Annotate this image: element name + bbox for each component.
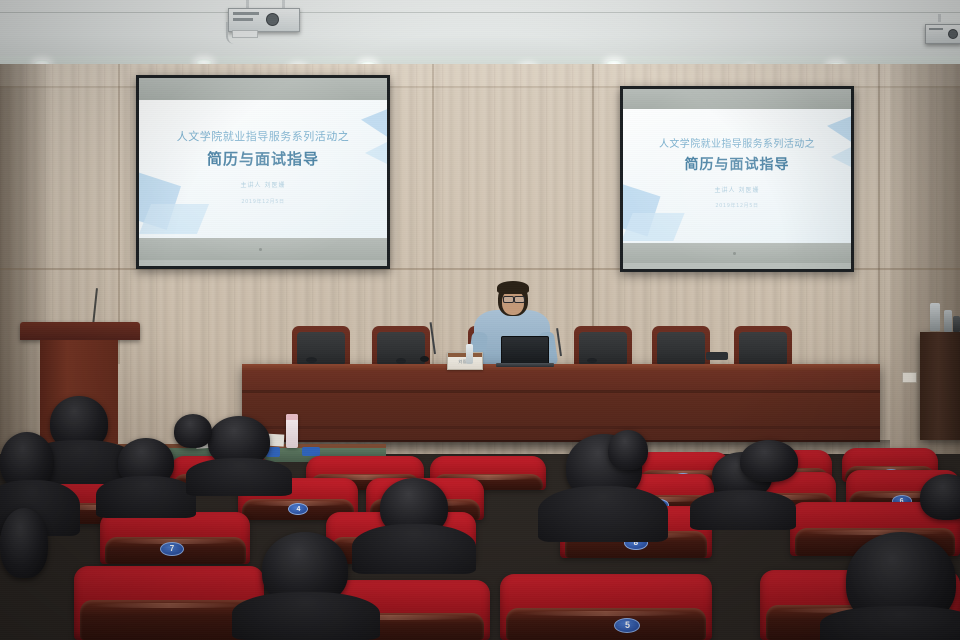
ceiling-seam — [0, 12, 960, 13]
projection-screen-left[interactable]: 人文学院就业指导服务系列活动之 简历与面试指导 主讲人 刘医姗 2019年12月… — [136, 75, 390, 269]
thermos-flask — [930, 303, 940, 331]
attendee-head — [0, 508, 48, 578]
glasses-icon — [514, 296, 525, 303]
mouse — [420, 356, 429, 362]
slide-heading-line2: 简历与面试指导 — [623, 154, 851, 174]
slide-presenter-line: 主讲人 刘医姗 — [139, 180, 387, 189]
attendee-head — [174, 414, 212, 448]
thermos-flask — [953, 316, 960, 332]
lecture-hall-photo: 人文学院就业指导服务系列活动之 简历与面试指导 主讲人 刘医姗 2019年12月… — [0, 0, 960, 640]
laptop-base — [496, 363, 554, 367]
attendee-body — [96, 476, 196, 518]
attendee-body — [538, 486, 668, 542]
mouse — [306, 357, 317, 363]
wall-seam — [432, 64, 434, 364]
attendee-head — [608, 430, 648, 470]
seat[interactable]: 5 — [500, 574, 712, 640]
name-placard-text: 刘医姗 — [448, 359, 482, 365]
slide-heading-line1: 人文学院就业指导服务系列活动之 — [623, 135, 851, 150]
projection-screen-right[interactable]: 人文学院就业指导服务系列活动之 简历与面试指导 主讲人 刘医姗 2019年12月… — [620, 86, 854, 272]
mouse — [396, 358, 406, 364]
attendee-head — [920, 474, 960, 520]
name-placard: 刘医姗 — [447, 352, 483, 370]
water-bottle — [466, 344, 473, 364]
attendee-body — [352, 524, 476, 574]
ceiling — [0, 0, 960, 64]
slide-date-line: 2019年12月5日 — [139, 198, 387, 205]
slide-date-line: 2019年12月5日 — [623, 202, 851, 209]
slide-heading-line2: 简历与面试指导 — [139, 148, 387, 169]
thermos-flask — [944, 310, 952, 332]
wall-seam — [592, 64, 594, 364]
desk-item — [706, 352, 728, 360]
desk-item-blue — [302, 447, 320, 456]
attendee-body — [820, 606, 960, 640]
presenter-table — [242, 364, 880, 442]
attendee-body — [690, 490, 796, 530]
slide-heading-line1: 人文学院就业指导服务系列活动之 — [139, 128, 387, 144]
glasses-icon — [503, 296, 514, 303]
attendee-head — [740, 440, 798, 482]
seat-number-badge: 5 — [614, 618, 640, 633]
attendee-body — [186, 458, 292, 496]
wall-outlet — [902, 372, 917, 383]
slide-presenter-line: 主讲人 刘医姗 — [623, 185, 851, 194]
attendee-body — [232, 592, 380, 640]
bottle-cap — [286, 414, 298, 420]
mouse — [587, 358, 597, 363]
seat[interactable]: 7 — [100, 512, 250, 564]
wall-seam — [878, 64, 880, 394]
wall-seam — [118, 64, 120, 364]
laptop[interactable] — [501, 336, 549, 366]
